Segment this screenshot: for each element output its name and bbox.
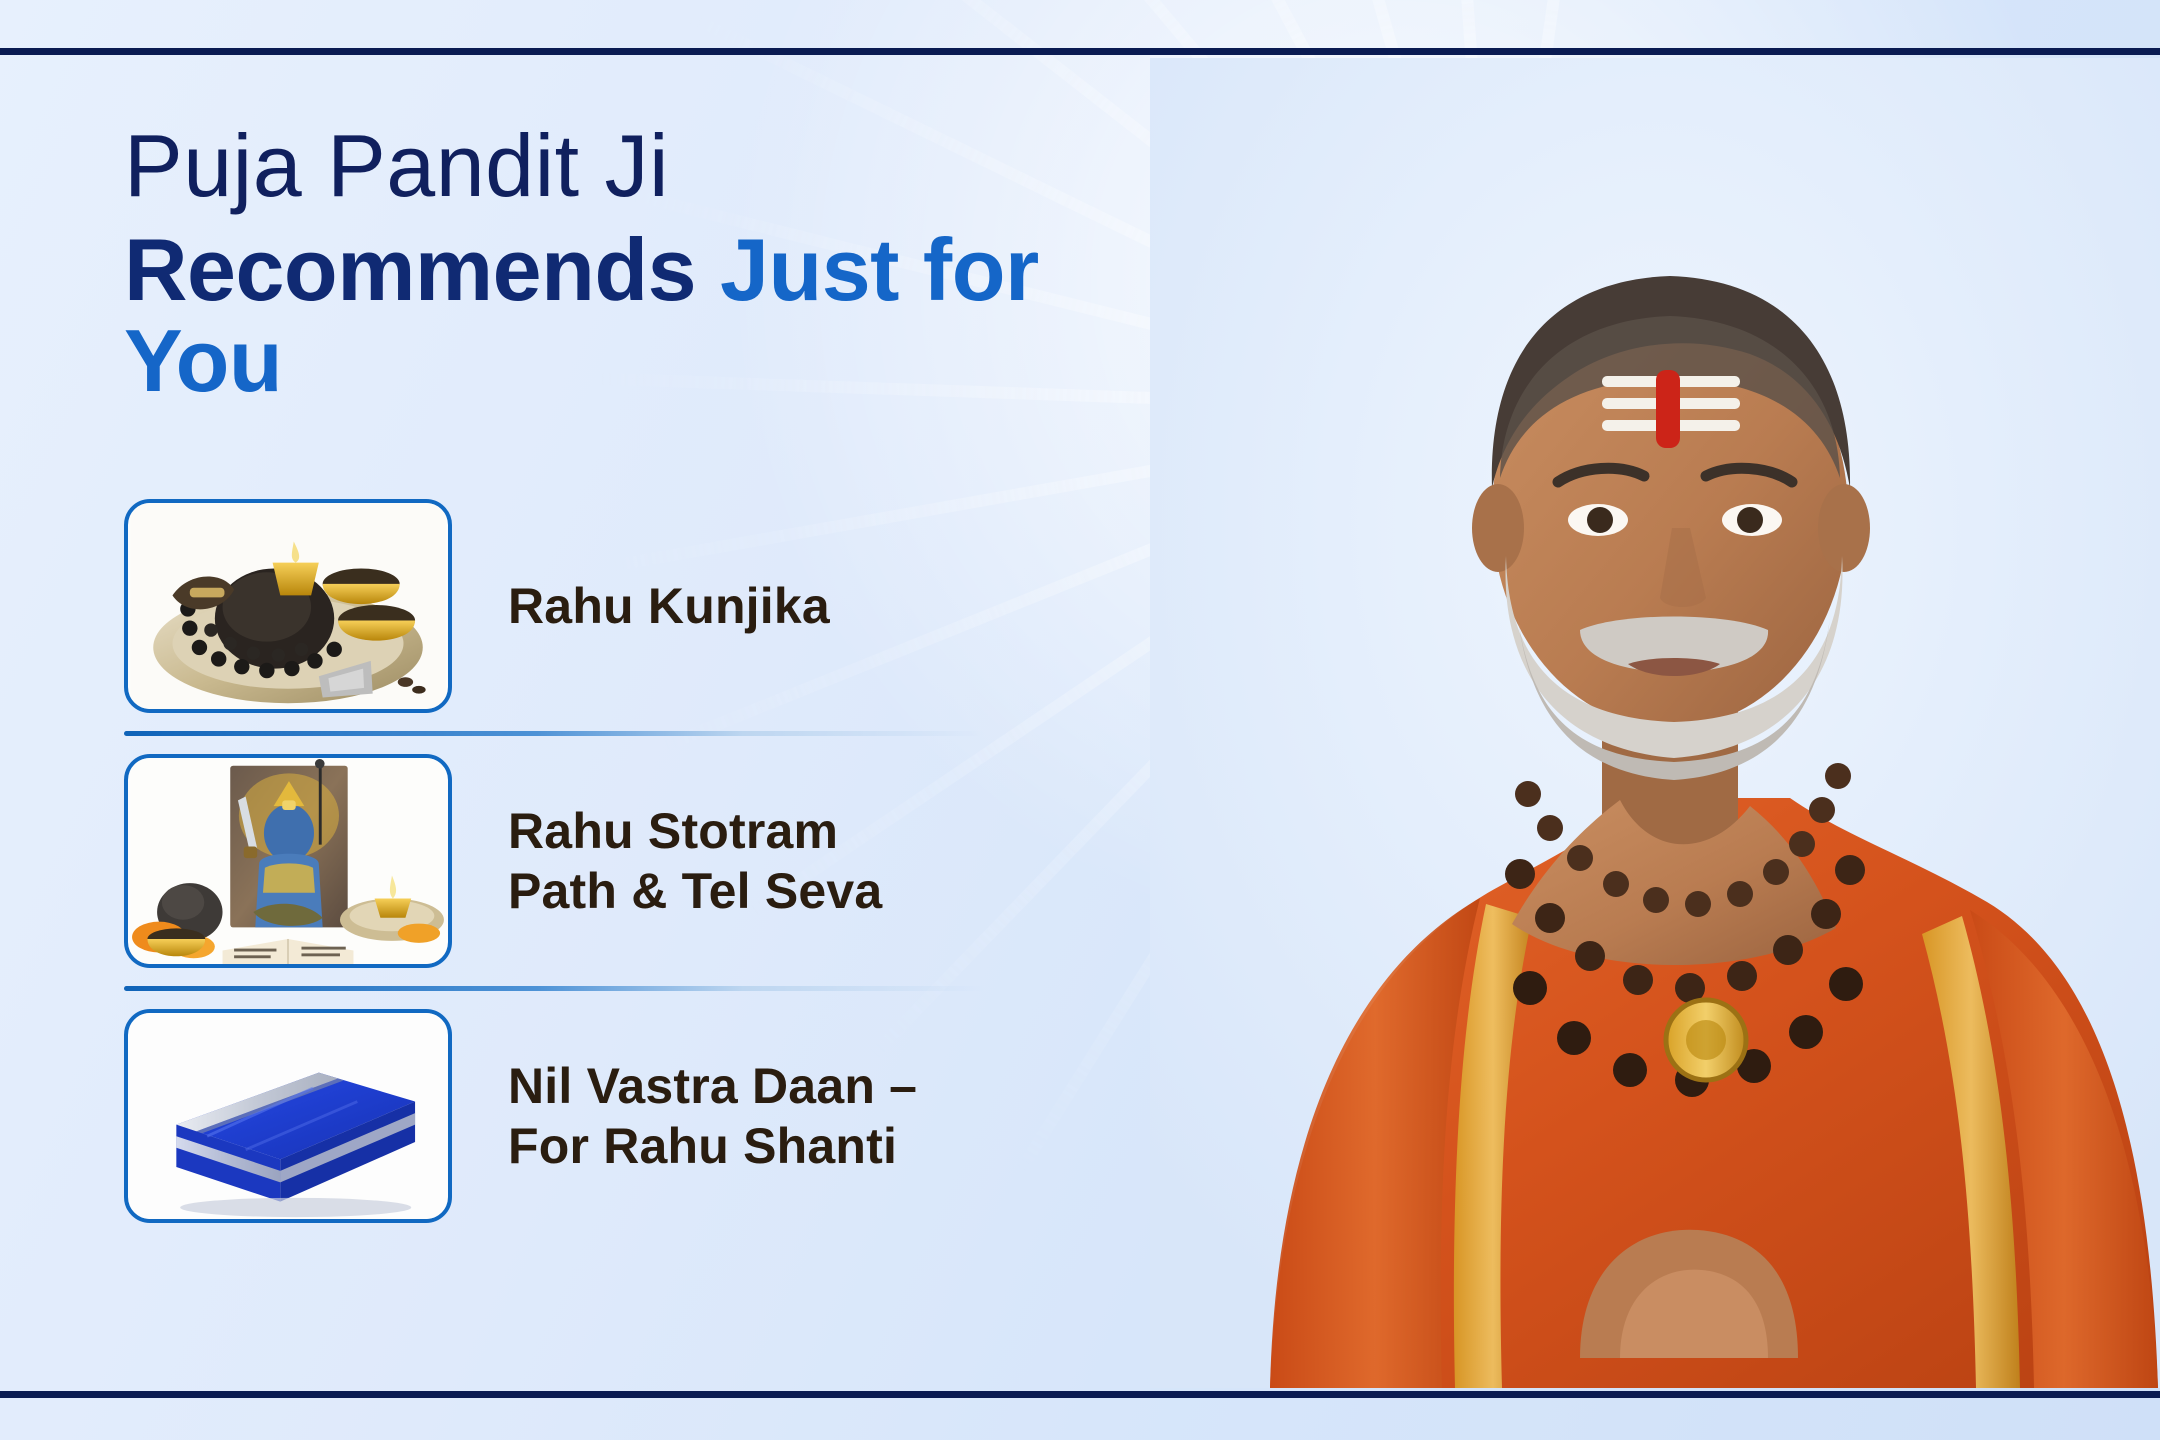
left-content: Puja Pandit Ji Recommends Just for You — [0, 60, 1180, 1380]
bottom-rule — [0, 1391, 2160, 1398]
list-item[interactable]: Rahu Stotram Path & Tel Seva — [124, 754, 984, 968]
headline-line-2: Recommends Just for You — [124, 224, 1180, 407]
recommendation-banner: Puja Pandit Ji Recommends Just for You — [0, 0, 2160, 1440]
headline-line-1: Puja Pandit Ji — [124, 120, 1180, 212]
nil-vastra-daan-thumbnail[interactable] — [124, 1009, 452, 1223]
list-item-label: Rahu Kunjika — [508, 576, 830, 636]
list-item[interactable]: Nil Vastra Daan – For Rahu Shanti — [124, 1009, 984, 1223]
list-item[interactable]: Rahu Kunjika — [124, 499, 984, 713]
list-item-label-line-2: For Rahu Shanti — [508, 1116, 917, 1176]
list-item-label-line-1: Rahu Stotram — [508, 801, 882, 861]
list-divider — [124, 731, 984, 736]
pandit-portrait — [1150, 58, 2160, 1388]
recommendation-list: Rahu Kunjika — [124, 499, 984, 1223]
rahu-stotram-thumbnail[interactable] — [124, 754, 452, 968]
top-rule — [0, 48, 2160, 55]
list-item-label: Rahu Stotram Path & Tel Seva — [508, 801, 882, 921]
page-title: Puja Pandit Ji Recommends Just for You — [124, 120, 1180, 407]
headline-recommends: Recommends — [124, 220, 696, 319]
list-item-label: Nil Vastra Daan – For Rahu Shanti — [508, 1056, 917, 1176]
list-divider — [124, 986, 984, 991]
list-item-label-line-2: Path & Tel Seva — [508, 861, 882, 921]
list-item-label-line-1: Nil Vastra Daan – — [508, 1056, 917, 1116]
rahu-kunjika-thumbnail[interactable] — [124, 499, 452, 713]
